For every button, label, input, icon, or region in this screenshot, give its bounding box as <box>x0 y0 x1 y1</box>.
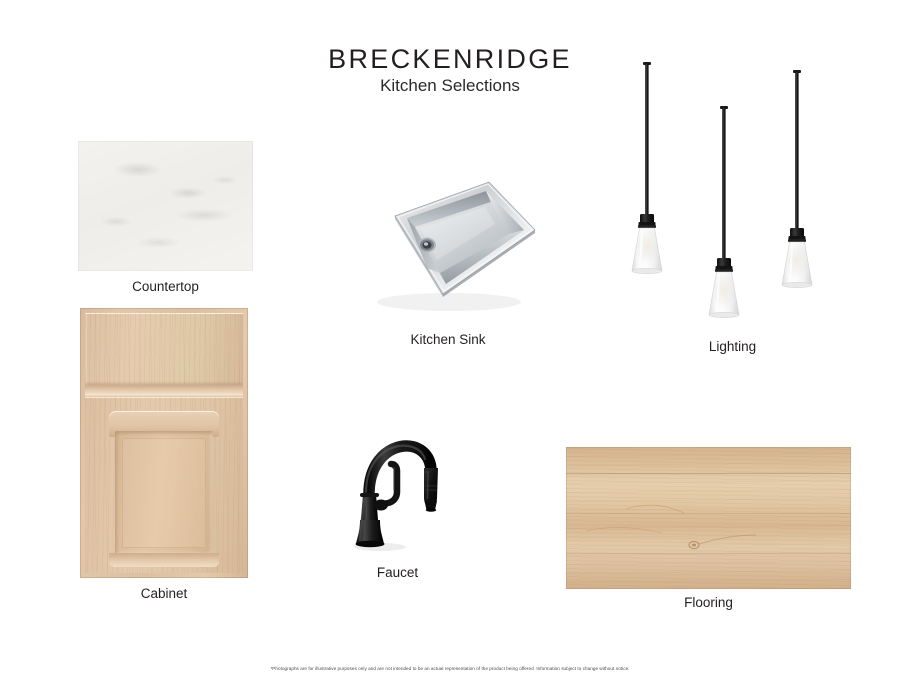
cabinet-panel-inner <box>122 438 206 548</box>
selection-faucet: Faucet <box>345 402 450 557</box>
floor-knot-detail <box>566 447 851 589</box>
flooring-plank-image <box>566 447 851 589</box>
kitchen-sink-label: Kitchen Sink <box>357 332 539 347</box>
cabinet-door-frame <box>85 397 243 573</box>
selection-flooring: Flooring <box>566 447 851 589</box>
cabinet-door-image <box>80 308 248 578</box>
pendant-light-3 <box>782 70 812 288</box>
wood-grain-texture <box>85 313 243 385</box>
countertop-swatch-image <box>78 141 253 271</box>
cabinet-bottom-rail <box>109 553 219 567</box>
cabinet-drawer-front <box>85 313 243 385</box>
selection-kitchen-sink: Kitchen Sink <box>357 172 539 317</box>
kitchen-sink-image <box>357 172 539 317</box>
pendant-light-1 <box>632 62 662 274</box>
cabinet-label: Cabinet <box>80 586 248 601</box>
lighting-label: Lighting <box>610 339 855 354</box>
cabinet-raised-panel <box>115 431 213 555</box>
cabinet-drawer-bevel <box>85 385 243 394</box>
countertop-label: Countertop <box>78 279 253 294</box>
selection-lighting: Lighting <box>610 58 855 323</box>
footer-disclaimer: *Photographs are for illustrative purpos… <box>0 666 900 671</box>
faucet-label: Faucet <box>345 565 450 580</box>
faucet-image <box>345 402 450 557</box>
selection-cabinet: Cabinet <box>80 308 248 578</box>
pendant-light-2 <box>709 106 739 318</box>
flooring-label: Flooring <box>566 595 851 610</box>
pendant-lights-image <box>610 58 855 323</box>
